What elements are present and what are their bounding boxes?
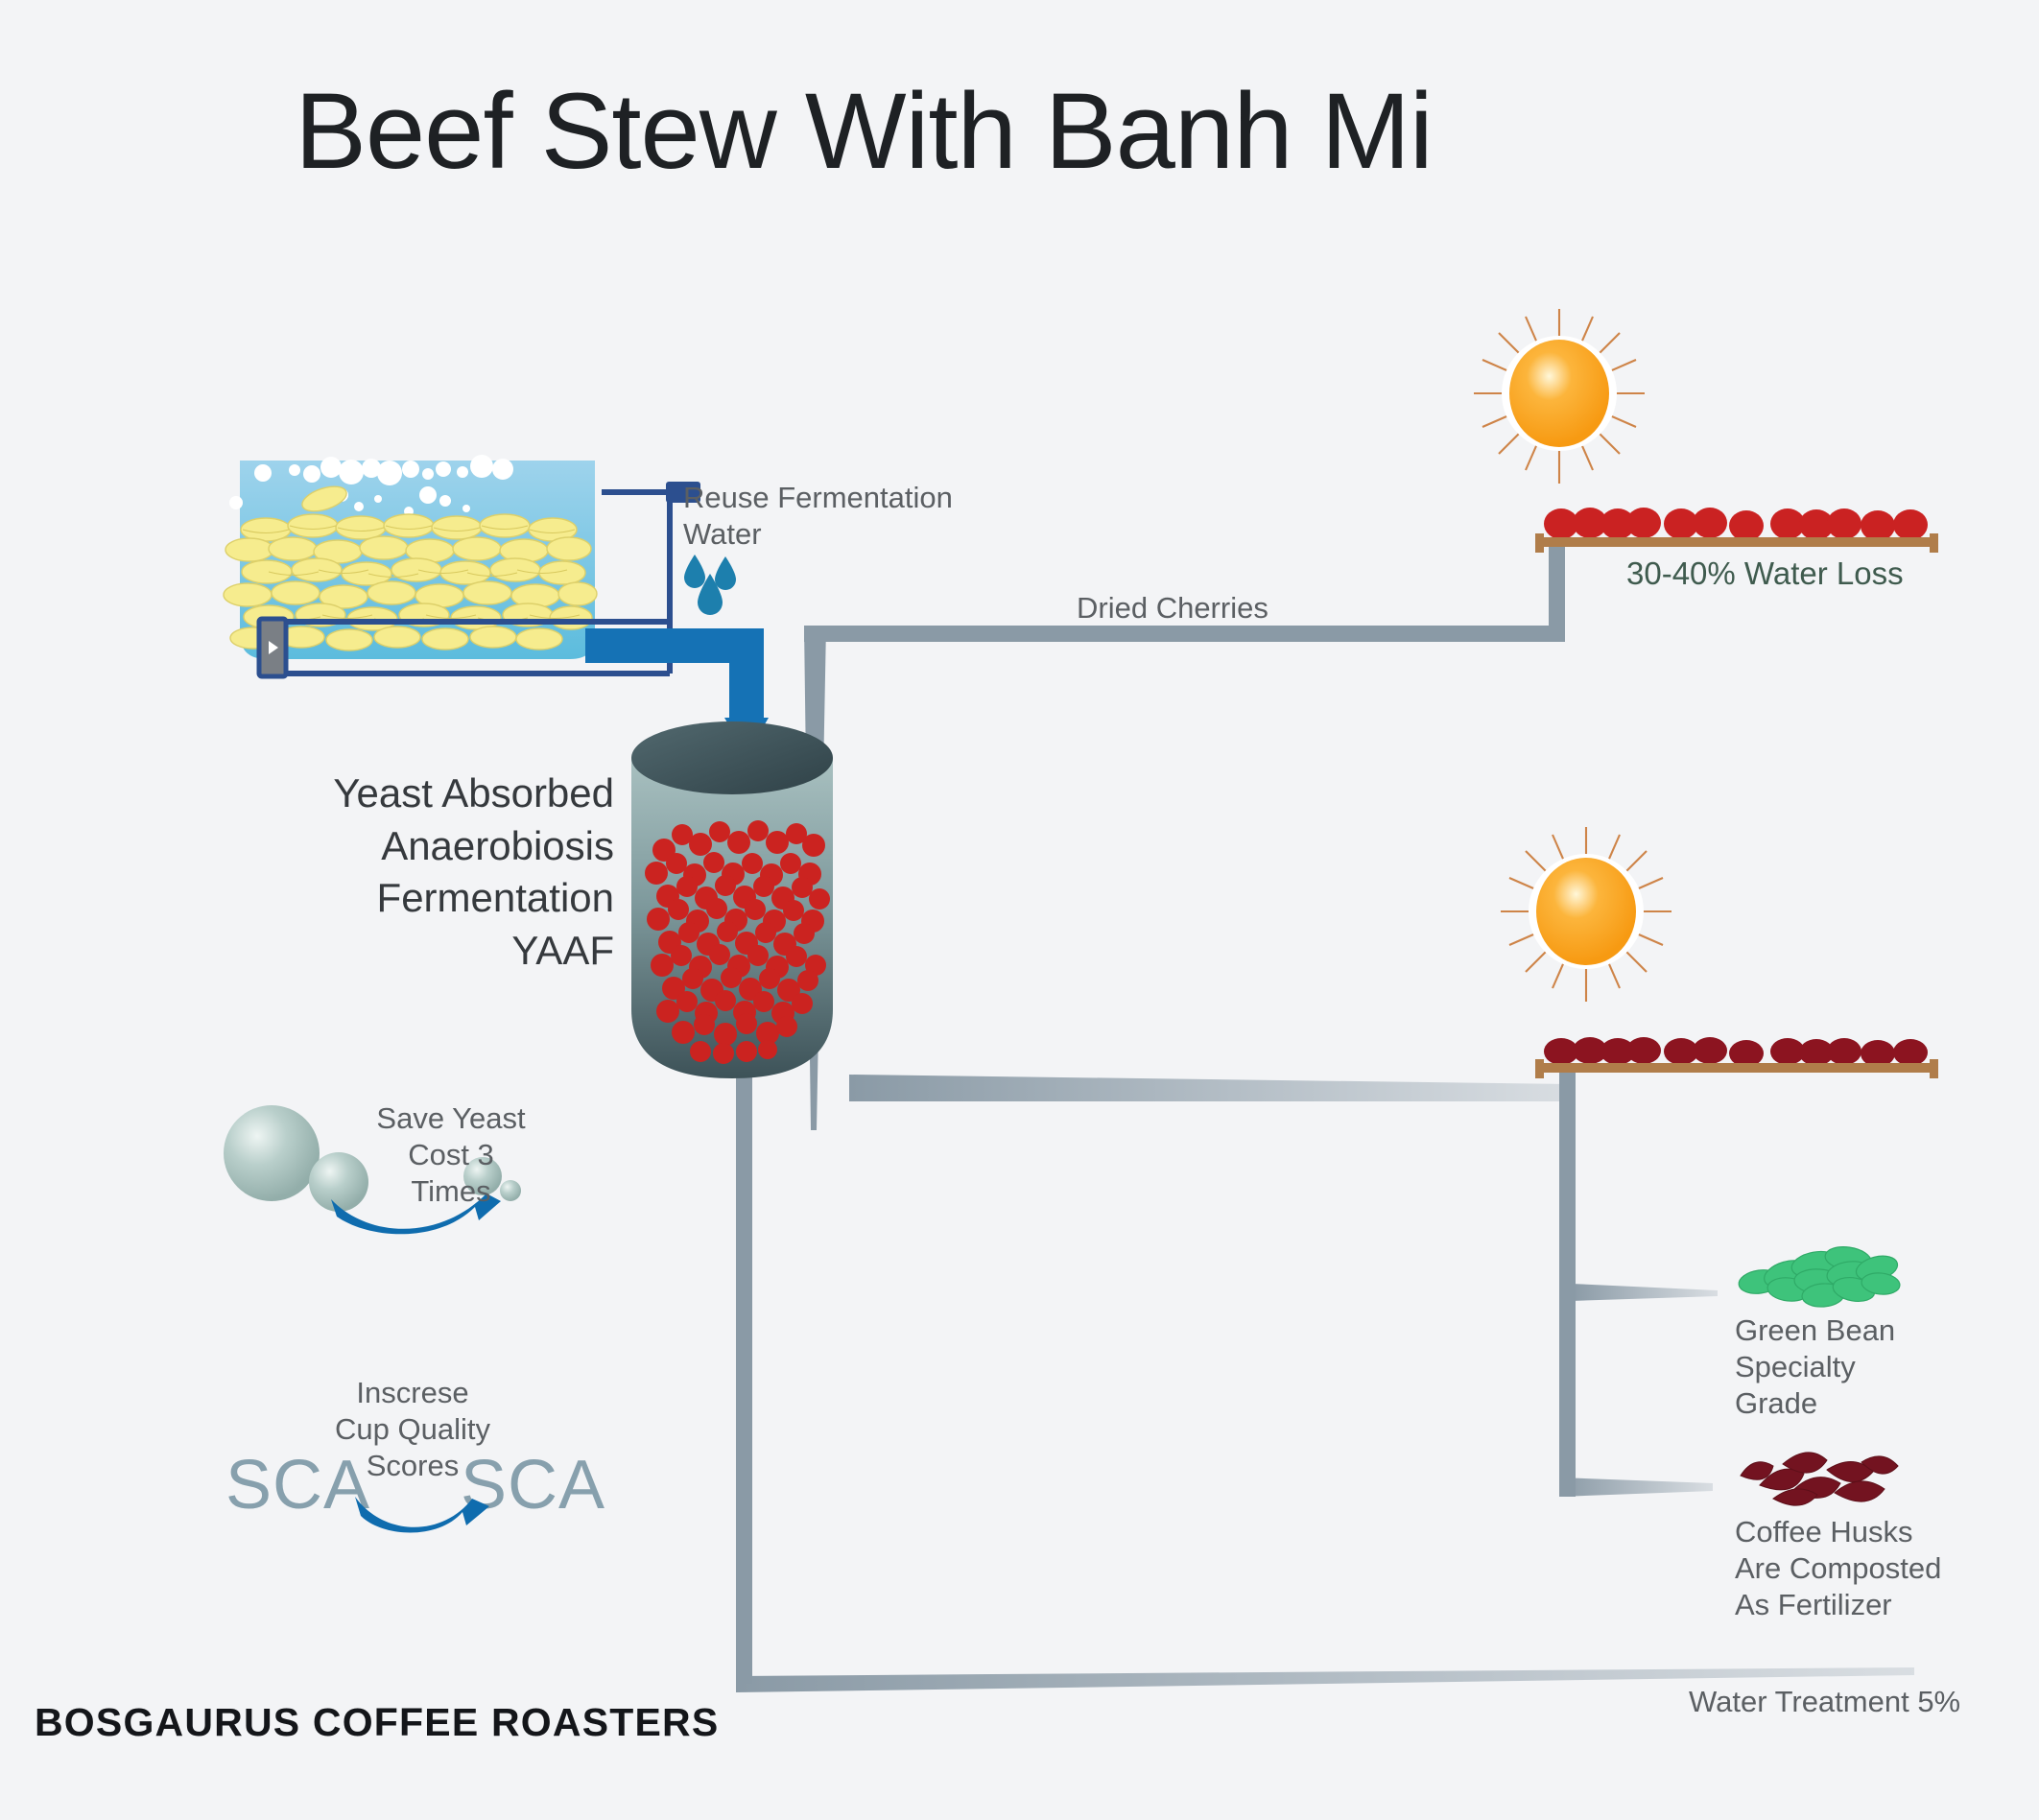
fresh-cherries [1544,508,1928,541]
dried-cherries [1544,1037,1928,1067]
sca-badge-left: SCA [225,1446,370,1525]
drying-bed-icon [1535,1034,1948,1092]
water-droplets-icon [681,549,758,616]
pump-valve-icon[interactable] [259,619,286,676]
coffee-husk-cluster-icon [1735,1437,1908,1514]
sca-arrow-icon [355,1477,509,1535]
brand-logo-text: BOSGAURUS COFFEE ROASTERS [35,1700,719,1745]
sun-icon [1495,823,1677,1005]
dried-cherries-label: Dried Cherries [1077,590,1268,626]
green-bean-cluster-icon [1735,1236,1908,1312]
water-treatment-label: Water Treatment 5% [1689,1684,1960,1720]
green-bean-label: Green Bean Specialty Grade [1735,1312,1975,1421]
coffee-husks-label: Coffee Husks Are Composted As Fertilizer [1735,1514,2013,1622]
fermentation-tank-icon [624,721,902,1096]
reuse-water-label: Reuse Fermentation Water [683,480,990,553]
save-yeast-label: Save Yeast Cost 3 Times [341,1100,561,1209]
water-loss-label: 30-40% Water Loss [1626,555,1904,593]
fermentation-tank-label: Yeast Absorbed Anaerobiosis Fermentation… [240,768,614,977]
sun-icon [1468,305,1650,487]
infographic-canvas: Beef Stew With Banh Mi [0,0,2039,1820]
